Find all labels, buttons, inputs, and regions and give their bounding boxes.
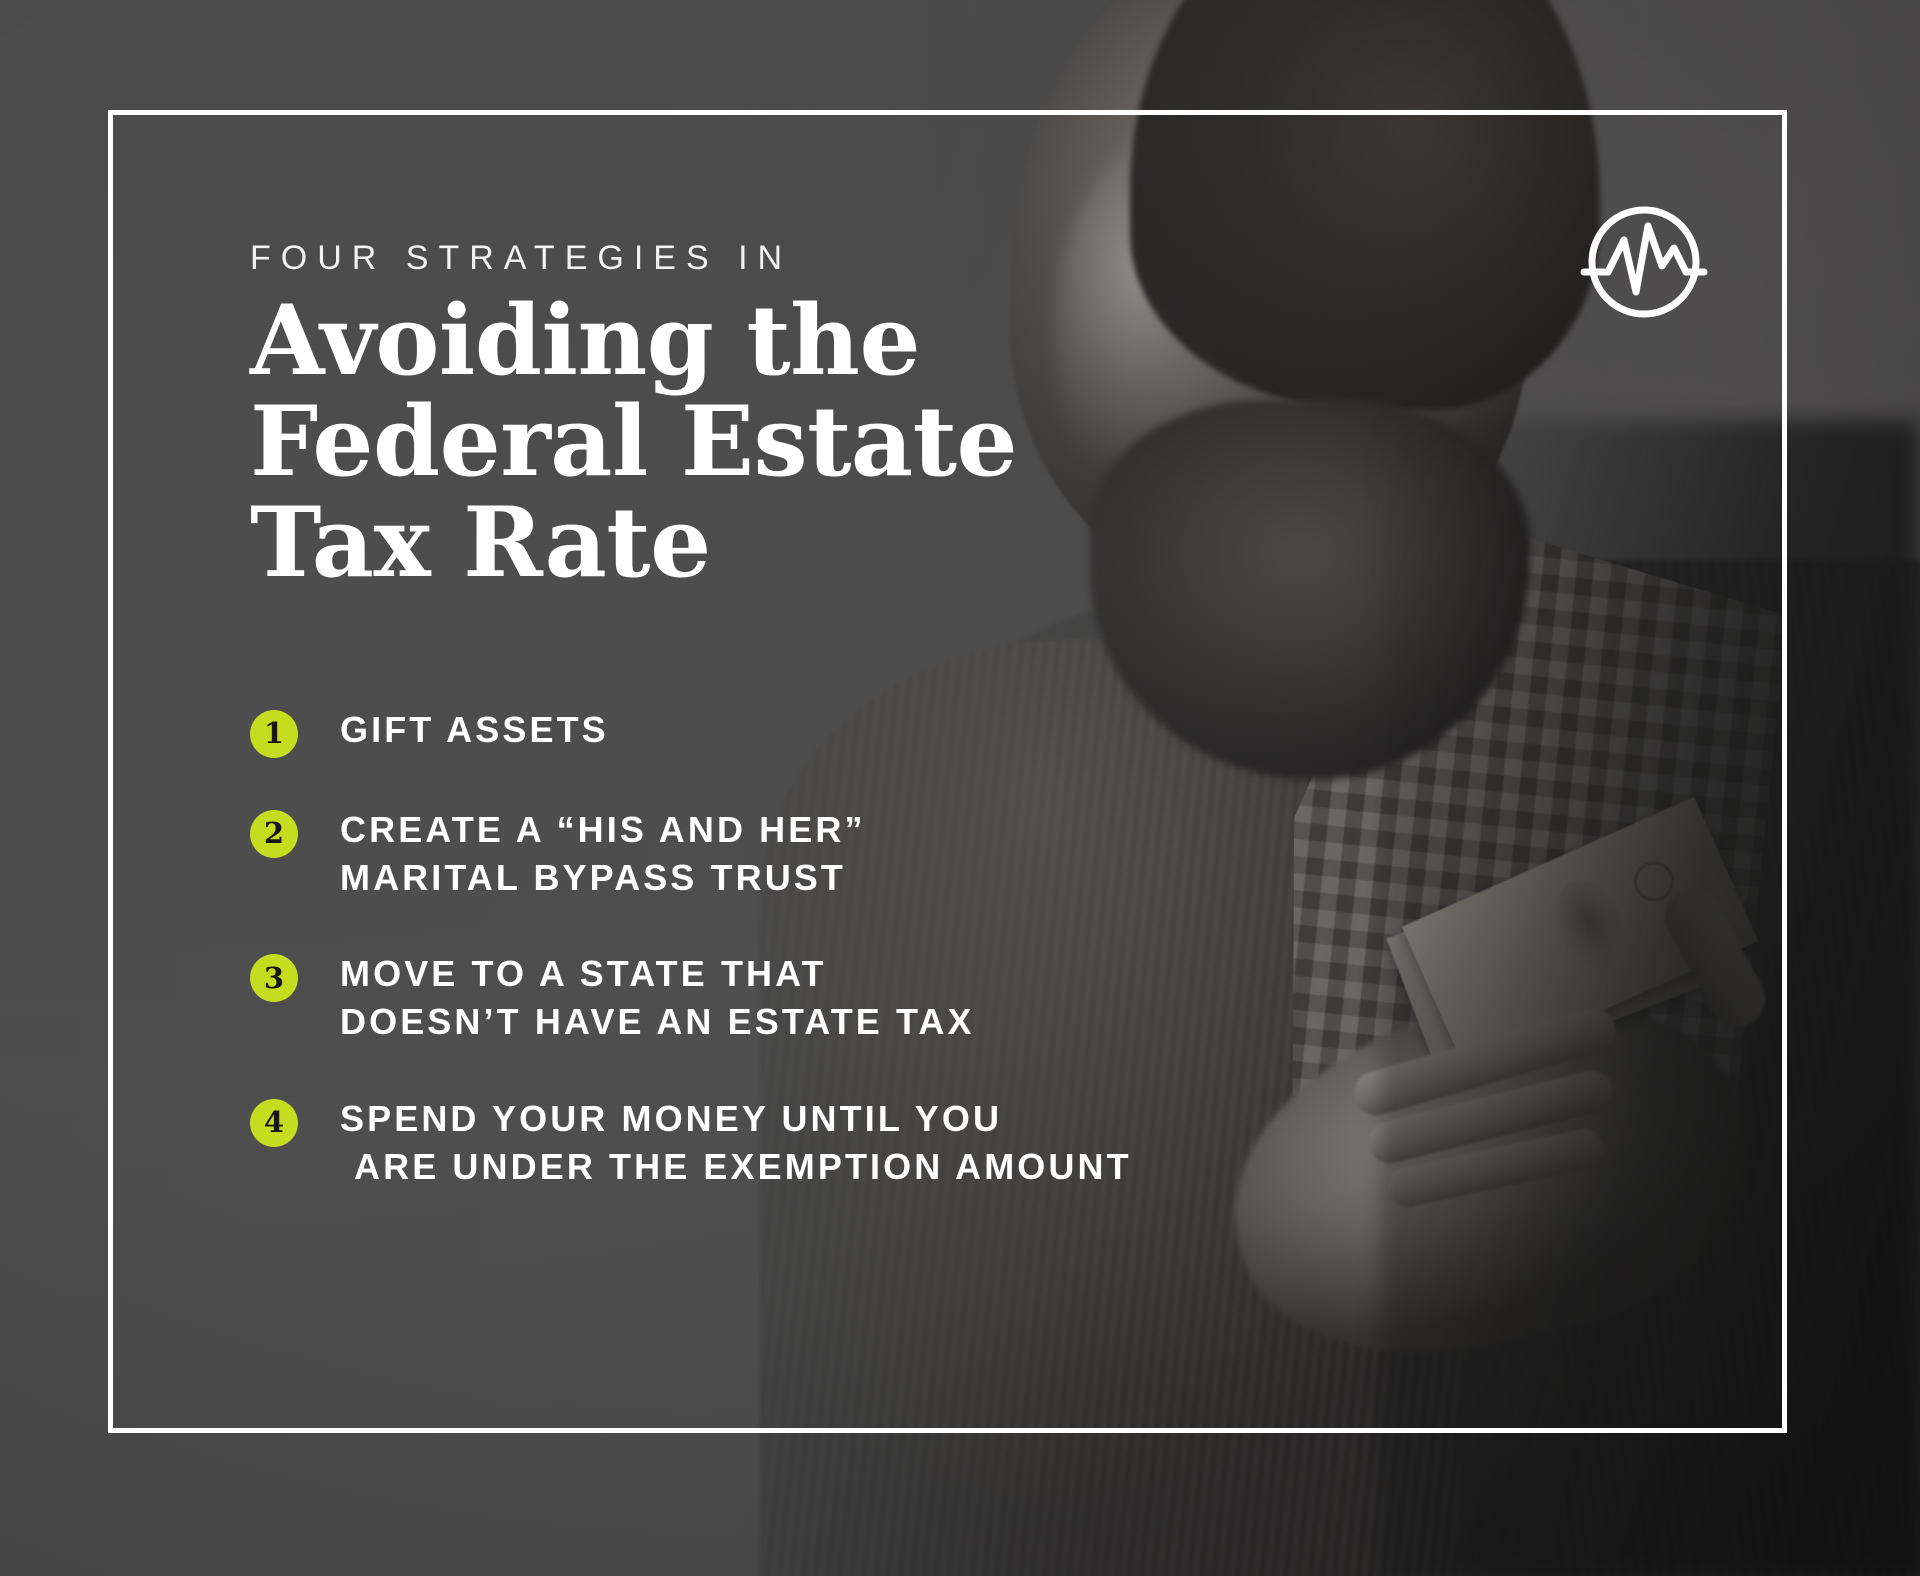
- pulse-wave-circle-logo[interactable]: [1578, 196, 1710, 328]
- list-item: 3 MOVE TO A STATE THAT DOESN’T HAVE AN E…: [250, 950, 1350, 1046]
- number-badge-2: 2: [250, 810, 298, 858]
- page-title: Avoiding the Federal Estate Tax Rate: [250, 291, 1350, 593]
- strategy-list: 1 GIFT ASSETS 2 CREATE A “HIS AND HER” M…: [250, 706, 1350, 1191]
- list-item: 1 GIFT ASSETS: [250, 706, 1350, 758]
- number-badge-3: 3: [250, 954, 298, 1002]
- strategy-text-1: GIFT ASSETS: [340, 706, 609, 754]
- number-badge-4: 4: [250, 1099, 298, 1147]
- strategy-1-line-1: GIFT ASSETS: [340, 706, 609, 754]
- number-badge-1: 1: [250, 710, 298, 758]
- headline-line-3: Tax Rate: [250, 493, 1350, 594]
- headline-line-1: Avoiding the: [250, 291, 1350, 392]
- list-item: 4 SPEND YOUR MONEY UNTIL YOU ARE UNDER T…: [250, 1095, 1350, 1191]
- strategy-text-3: MOVE TO A STATE THAT DOESN’T HAVE AN EST…: [340, 950, 975, 1046]
- strategy-4-line-2: ARE UNDER THE EXEMPTION AMOUNT: [340, 1143, 1132, 1191]
- strategy-2-line-1: CREATE A “HIS AND HER”: [340, 806, 866, 854]
- infographic-poster: FOUR STRATEGIES IN Avoiding the Federal …: [0, 0, 1920, 1576]
- kicker-text: FOUR STRATEGIES IN: [250, 240, 1350, 277]
- strategy-3-line-1: MOVE TO A STATE THAT: [340, 950, 975, 998]
- strategy-2-line-2: MARITAL BYPASS TRUST: [340, 854, 866, 902]
- strategy-4-line-1: SPEND YOUR MONEY UNTIL YOU: [340, 1095, 1132, 1143]
- headline-line-2: Federal Estate: [250, 392, 1350, 493]
- strategy-3-line-2: DOESN’T HAVE AN ESTATE TAX: [340, 998, 975, 1046]
- list-item: 2 CREATE A “HIS AND HER” MARITAL BYPASS …: [250, 806, 1350, 902]
- poster-content: FOUR STRATEGIES IN Avoiding the Federal …: [250, 240, 1350, 1191]
- strategy-text-4: SPEND YOUR MONEY UNTIL YOU ARE UNDER THE…: [340, 1095, 1132, 1191]
- strategy-text-2: CREATE A “HIS AND HER” MARITAL BYPASS TR…: [340, 806, 866, 902]
